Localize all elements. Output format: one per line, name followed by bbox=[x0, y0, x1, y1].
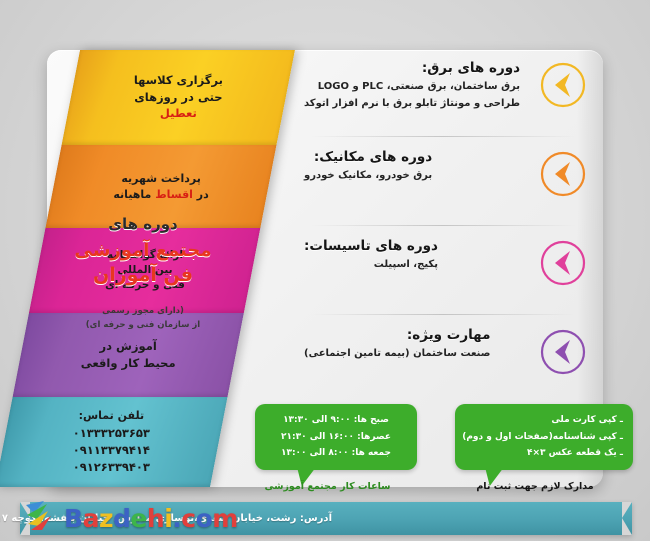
course-divider bbox=[310, 314, 576, 315]
infographic-poster: برگزاری کلاسها حتی در روزهای تعطیل پرداخ… bbox=[0, 0, 650, 541]
required-documents-caption: مدارک لازم جهت ثبت نام bbox=[455, 481, 615, 492]
phone-number-2[interactable]: ۰۹۱۱۳۳۷۹۴۱۴ bbox=[73, 442, 150, 459]
course-desc-line-1: صنعت ساختمان (بیمه تامین اجتماعی) bbox=[304, 346, 490, 363]
chevron-left-circle-icon bbox=[538, 149, 588, 199]
headline-institute-name: مجتمع آموزشی bbox=[58, 239, 228, 263]
logo-dot: . bbox=[172, 504, 181, 533]
ribbon-band-holiday-classes: برگزاری کلاسها حتی در روزهای تعطیل bbox=[62, 50, 295, 145]
course-text-block: مهارت ویژه: صنعت ساختمان (بیمه تامین اجت… bbox=[304, 325, 490, 363]
chevron-left-circle-icon bbox=[538, 60, 588, 110]
headline-institute-name-2: فن آموزان bbox=[58, 263, 228, 289]
course-divider bbox=[310, 225, 576, 226]
band-line-2-highlight: اقساط bbox=[155, 188, 193, 201]
band-line-2-prefix: در bbox=[197, 188, 209, 201]
phone-number-1[interactable]: ۰۱۳۳۳۲۵۳۶۵۳ bbox=[73, 425, 150, 442]
documents-line-3: ـ یک قطعه عکس ۳×۴ bbox=[465, 445, 623, 462]
course-title: دوره های برق: bbox=[304, 60, 520, 76]
headline-prefix: دوره های bbox=[58, 215, 228, 233]
course-desc-line-2: طراحی و مونتاژ تابلو برق با نرم افزار ات… bbox=[304, 96, 520, 113]
band-line-2: محیط کار واقعی bbox=[81, 355, 176, 372]
license-line-1: (دارای مجوز رسمی bbox=[58, 305, 228, 319]
band-line-1: برگزاری کلاسها bbox=[134, 72, 223, 89]
band-line-2-suffix: ماهیانه bbox=[113, 188, 151, 201]
headline-block: دوره های مجتمع آموزشی فن آموزان (دارای م… bbox=[58, 215, 228, 332]
course-title: دوره های مکانیک: bbox=[304, 149, 432, 165]
ribbon-band-contact-phones: تلفن تماس: ۰۱۳۳۳۲۵۳۶۵۳ ۰۹۱۱۳۳۷۹۴۱۴ ۰۹۱۲۶… bbox=[0, 397, 228, 487]
course-list: دوره های برق: برق ساختمان، برق صنعتی، PL… bbox=[300, 58, 590, 397]
course-item-special-skill[interactable]: مهارت ویژه: صنعت ساختمان (بیمه تامین اجت… bbox=[300, 325, 590, 397]
bazdehi-logo-text: Bazdehi.com bbox=[64, 504, 238, 533]
band-line-3-highlight: تعطیل bbox=[134, 106, 223, 123]
bazdehi-logo[interactable]: Bazdehi.com bbox=[24, 498, 238, 538]
course-text-block: دوره های برق: برق ساختمان، برق صنعتی، PL… bbox=[304, 58, 520, 112]
course-item-electrical[interactable]: دوره های برق: برق ساختمان، برق صنعتی، PL… bbox=[300, 58, 590, 130]
course-item-facilities[interactable]: دوره های تاسیسات: پکیج، اسپیلت bbox=[300, 236, 590, 308]
logo-letter-d: d bbox=[113, 504, 130, 533]
course-desc-line-1: برق خودرو، مکانیک خودرو bbox=[304, 168, 432, 185]
hours-line-1: صبح ها: ۹:۰۰ الی ۱۳:۳۰ bbox=[265, 412, 407, 429]
logo-letter-c: c bbox=[181, 504, 195, 533]
documents-line-2: ـ کپی شناسنامه(صفحات اول و دوم) bbox=[465, 429, 623, 446]
logo-letter-B: B bbox=[64, 504, 83, 533]
band-line-2: در اقساط ماهیانه bbox=[113, 187, 208, 203]
working-hours-caption: ساعات کار مجتمع آموزشی bbox=[255, 481, 400, 492]
band-line-1: آموزش در bbox=[81, 338, 176, 355]
license-line-2: از سازمان فنی و حرفه ای) bbox=[58, 319, 228, 333]
working-hours-bubble: صبح ها: ۹:۰۰ الی ۱۳:۳۰ عصرها: ۱۶:۰۰ الی … bbox=[255, 404, 417, 470]
logo-letter-o: o bbox=[196, 504, 213, 533]
course-text-block: دوره های مکانیک: برق خودرو، مکانیک خودرو bbox=[304, 147, 432, 185]
course-desc-line-1: پکیج، اسپیلت bbox=[304, 257, 438, 274]
logo-letter-z: z bbox=[99, 504, 113, 533]
course-text-block: دوره های تاسیسات: پکیج، اسپیلت bbox=[304, 236, 438, 274]
band-line-1: پرداخت شهریه bbox=[113, 171, 208, 187]
headline-license-note: (دارای مجوز رسمی از سازمان فنی و حرفه ای… bbox=[58, 305, 228, 332]
course-divider bbox=[310, 136, 576, 137]
phone-number-3[interactable]: ۰۹۱۲۶۳۳۹۴۰۳ bbox=[73, 459, 150, 476]
logo-letter-m: m bbox=[212, 504, 238, 533]
band-line-2: حتی در روزهای bbox=[134, 89, 223, 106]
required-documents-bubble: ـ کپی کارت ملی ـ کپی شناسنامه(صفحات اول … bbox=[455, 404, 633, 470]
hours-line-3: جمعه ها: ۸:۰۰ الی ۱۳:۰۰ bbox=[265, 445, 407, 462]
course-title: مهارت ویژه: bbox=[304, 327, 490, 343]
chevron-left-circle-icon bbox=[538, 238, 588, 288]
logo-letter-e: e bbox=[130, 504, 146, 533]
hours-line-2: عصرها: ۱۶:۰۰ الی ۲۱:۳۰ bbox=[265, 429, 407, 446]
course-item-mechanics[interactable]: دوره های مکانیک: برق خودرو، مکانیک خودرو bbox=[300, 147, 590, 219]
course-title: دوره های تاسیسات: bbox=[304, 238, 438, 254]
course-desc-line-1: برق ساختمان، برق صنعتی، PLC و LOGO bbox=[304, 79, 520, 96]
bird-arrow-icon bbox=[24, 499, 64, 537]
logo-letter-a: a bbox=[83, 504, 99, 533]
documents-line-1: ـ کپی کارت ملی bbox=[465, 412, 623, 429]
logo-letter-h: h bbox=[147, 504, 164, 533]
chevron-left-circle-icon bbox=[538, 327, 588, 377]
phone-label: تلفن تماس: bbox=[73, 408, 150, 424]
